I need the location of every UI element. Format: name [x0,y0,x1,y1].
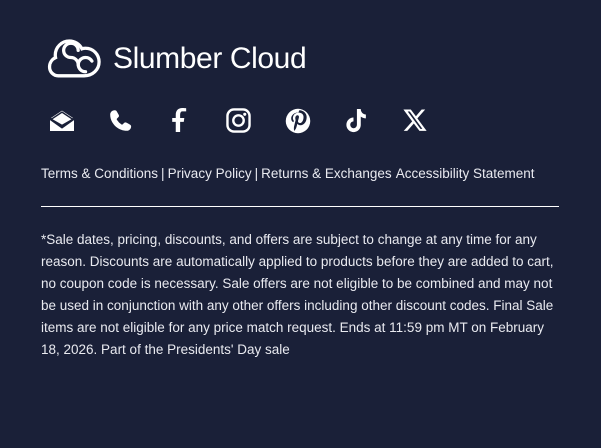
instagram-icon[interactable] [222,104,255,137]
link-separator-2: | [252,166,262,181]
link-accessibility-statement[interactable]: Accessibility Statement [396,166,535,181]
link-returns-exchanges[interactable]: Returns & Exchanges [261,166,392,181]
cloud-swirl-icon [47,39,103,79]
sale-disclaimer-text: *Sale dates, pricing, discounts, and off… [41,229,559,361]
phone-icon[interactable] [104,104,137,137]
footer-divider [41,206,559,207]
legal-links: Terms & Conditions|Privacy Policy|Return… [0,137,601,184]
link-privacy-policy[interactable]: Privacy Policy [168,166,252,181]
facebook-icon[interactable] [163,104,196,137]
site-footer: Slumber Cloud [0,0,601,448]
tiktok-icon[interactable] [340,104,373,137]
link-terms-conditions[interactable]: Terms & Conditions [41,166,158,181]
link-separator-1: | [158,166,168,181]
pinterest-icon[interactable] [281,104,314,137]
envelope-icon[interactable] [45,104,78,137]
social-links [0,82,601,137]
brand-name: Slumber Cloud [113,44,306,74]
brand-logo[interactable]: Slumber Cloud [0,0,601,82]
x-twitter-icon[interactable] [399,104,432,137]
